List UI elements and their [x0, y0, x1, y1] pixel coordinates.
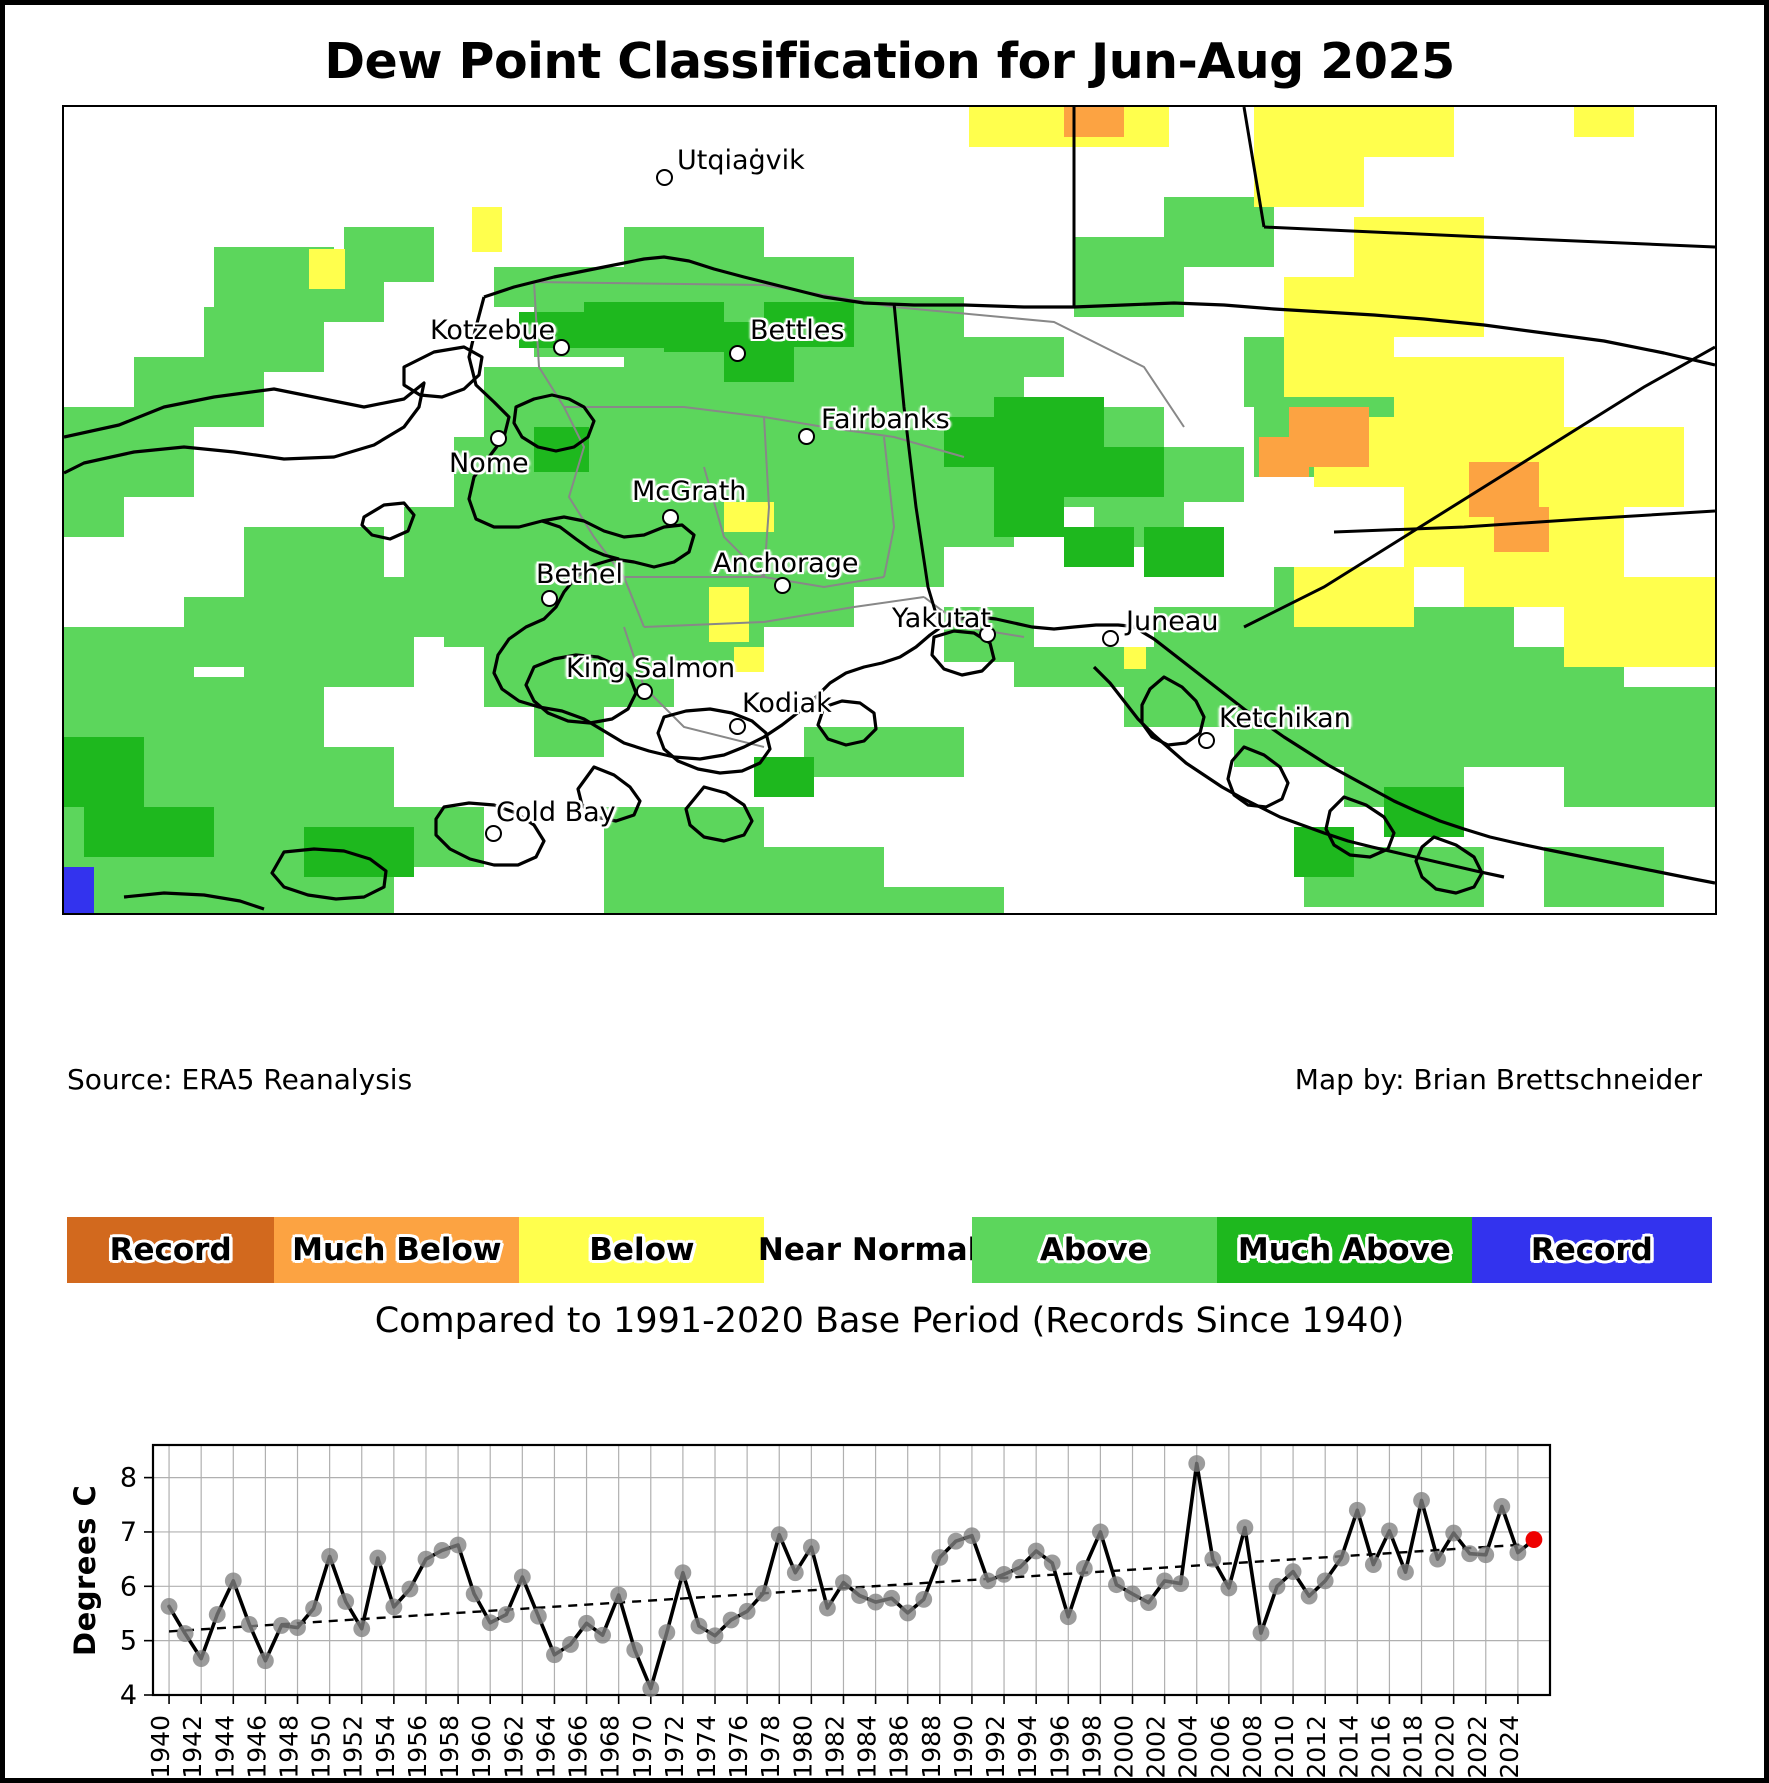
legend-item-record[interactable]: Record [1472, 1217, 1712, 1283]
data-point[interactable] [1092, 1524, 1109, 1541]
data-point[interactable] [1269, 1578, 1286, 1595]
data-point[interactable] [1204, 1551, 1221, 1568]
page-title: Dew Point Classification for Jun-Aug 202… [5, 33, 1769, 90]
data-point[interactable] [1413, 1492, 1430, 1509]
data-point[interactable] [161, 1598, 178, 1615]
x-tick-label: 1972 [660, 1715, 689, 1779]
data-point[interactable] [1220, 1580, 1237, 1597]
data-point[interactable] [385, 1599, 402, 1616]
x-tick-label: 2006 [1206, 1715, 1235, 1779]
x-tick-label: 1944 [210, 1715, 239, 1779]
data-point[interactable] [353, 1620, 370, 1637]
data-point[interactable] [1445, 1525, 1462, 1542]
city-dot-juneau[interactable] [1102, 630, 1119, 647]
data-point[interactable] [273, 1617, 290, 1634]
x-tick-label: 1940 [146, 1715, 175, 1779]
data-point[interactable] [1461, 1545, 1478, 1562]
data-point[interactable] [1429, 1551, 1446, 1568]
city-label-mcgrath: McGrath [632, 476, 746, 507]
data-point[interactable] [257, 1652, 274, 1669]
data-point[interactable] [803, 1539, 820, 1556]
data-point[interactable] [883, 1590, 900, 1607]
x-tick-label: 1974 [692, 1715, 721, 1779]
data-point[interactable] [899, 1605, 916, 1622]
y-tick-label: 5 [120, 1626, 137, 1657]
data-point[interactable] [755, 1585, 772, 1602]
x-tick-label: 2000 [1110, 1715, 1139, 1779]
data-point[interactable] [193, 1650, 210, 1667]
city-label-ketchikan: Ketchikan [1219, 703, 1351, 734]
x-tick-label: 1948 [275, 1715, 304, 1779]
x-tick-label: 1958 [435, 1715, 464, 1779]
x-tick-label: 2008 [1238, 1715, 1267, 1779]
data-point[interactable] [1381, 1522, 1398, 1539]
data-point[interactable] [642, 1680, 659, 1697]
data-point[interactable] [1108, 1576, 1125, 1593]
data-point[interactable] [1317, 1572, 1334, 1589]
plot-background [153, 1445, 1550, 1695]
city-label-kodiak: Kodiak [742, 688, 832, 719]
legend-item-label: Above [1040, 1232, 1149, 1268]
y-tick-label: 4 [120, 1680, 137, 1711]
data-point[interactable] [1253, 1625, 1270, 1642]
classification-legend: RecordMuch BelowBelowNear NormalAboveMuc… [67, 1217, 1712, 1283]
data-point[interactable] [1076, 1560, 1093, 1577]
x-tick-label: 2014 [1334, 1715, 1363, 1779]
data-point[interactable] [915, 1591, 932, 1608]
data-point[interactable] [1140, 1594, 1157, 1611]
x-tick-label: 1984 [853, 1715, 882, 1779]
data-point[interactable] [819, 1600, 836, 1617]
data-point[interactable] [1156, 1572, 1173, 1589]
legend-item-label: Much Above [1238, 1232, 1451, 1268]
x-tick-label: 1986 [885, 1715, 914, 1779]
x-tick-label: 1950 [307, 1715, 336, 1779]
city-label-anchorage: Anchorage [713, 548, 858, 579]
data-point[interactable] [562, 1636, 579, 1653]
x-tick-label: 1954 [371, 1715, 400, 1779]
city-dot-king-salmon[interactable] [636, 683, 653, 700]
legend-item-below[interactable]: Below [519, 1217, 764, 1283]
data-point[interactable] [931, 1549, 948, 1566]
x-tick-label: 2012 [1302, 1715, 1331, 1779]
x-tick-label: 1988 [917, 1715, 946, 1779]
data-point[interactable] [434, 1542, 451, 1559]
city-dot-nome[interactable] [490, 430, 507, 447]
data-point[interactable] [787, 1564, 804, 1581]
x-tick-label: 1996 [1045, 1715, 1074, 1779]
data-point[interactable] [964, 1527, 981, 1544]
city-label-nome: Nome [449, 448, 529, 479]
data-point[interactable] [450, 1537, 467, 1554]
data-point[interactable] [1365, 1556, 1382, 1573]
y-tick-label: 7 [120, 1517, 137, 1548]
data-point[interactable] [1477, 1546, 1494, 1563]
legend-item-label: Near Normal [758, 1232, 978, 1268]
y-axis-label: Degrees C [65, 1445, 105, 1695]
x-tick-label: 1970 [628, 1715, 657, 1779]
legend-item-record[interactable]: Record [67, 1217, 274, 1283]
data-point[interactable] [658, 1624, 675, 1641]
x-tick-label: 2002 [1142, 1715, 1171, 1779]
data-point[interactable] [1493, 1498, 1510, 1515]
data-point[interactable] [1060, 1608, 1077, 1625]
data-point[interactable] [369, 1550, 386, 1567]
data-point[interactable] [177, 1625, 194, 1642]
data-point[interactable] [674, 1564, 691, 1581]
data-point-highlight[interactable] [1526, 1531, 1543, 1548]
data-point[interactable] [835, 1574, 852, 1591]
city-label-yakutat: Yakutat [892, 603, 991, 634]
legend-item-above[interactable]: Above [972, 1217, 1217, 1283]
x-tick-label: 2010 [1270, 1715, 1299, 1779]
x-tick-label: 2004 [1174, 1715, 1203, 1779]
data-point[interactable] [610, 1587, 627, 1604]
x-tick-label: 1962 [499, 1715, 528, 1779]
source-label: Source: ERA5 Reanalysis [67, 1063, 412, 1096]
data-point[interactable] [530, 1608, 547, 1625]
map-panel[interactable]: Utqiaġvik Kotzebue Bettles Nome Fairbank… [62, 105, 1717, 915]
data-point[interactable] [947, 1533, 964, 1550]
legend-item-near-normal[interactable]: Near Normal [764, 1217, 971, 1283]
data-point[interactable] [723, 1612, 740, 1629]
city-dot-utqiagvik[interactable] [656, 169, 673, 186]
x-tick-label: 1994 [1013, 1715, 1042, 1779]
data-point[interactable] [209, 1606, 226, 1623]
data-point[interactable] [1301, 1588, 1318, 1605]
data-point[interactable] [321, 1548, 338, 1565]
city-dot-fairbanks[interactable] [798, 428, 815, 445]
x-tick-label: 1956 [403, 1715, 432, 1779]
city-dot-bettles[interactable] [729, 345, 746, 362]
data-point[interactable] [691, 1618, 708, 1635]
data-point[interactable] [739, 1603, 756, 1620]
x-tick-label: 1978 [756, 1715, 785, 1779]
legend-item-label: Much Below [292, 1232, 501, 1268]
data-point[interactable] [241, 1616, 258, 1633]
x-tick-label: 1998 [1077, 1715, 1106, 1779]
data-point[interactable] [851, 1587, 868, 1604]
data-point[interactable] [337, 1593, 354, 1610]
x-tick-label: 2024 [1495, 1715, 1524, 1779]
data-point[interactable] [771, 1526, 788, 1543]
data-point[interactable] [867, 1594, 884, 1611]
x-tick-label: 2020 [1431, 1715, 1460, 1779]
data-point[interactable] [402, 1581, 419, 1598]
data-point[interactable] [1028, 1543, 1045, 1560]
city-label-bethel: Bethel [536, 559, 623, 590]
data-point[interactable] [514, 1569, 531, 1586]
y-tick-label: 8 [120, 1463, 137, 1494]
data-point[interactable] [1397, 1564, 1414, 1581]
city-dot-kodiak[interactable] [729, 718, 746, 735]
data-point[interactable] [418, 1551, 435, 1568]
x-tick-label: 1980 [788, 1715, 817, 1779]
x-tick-label: 1946 [242, 1715, 271, 1779]
timeseries-svg: 1940194219441946194819501952195419561958… [5, 1397, 1769, 1783]
city-dot-ketchikan[interactable] [1198, 732, 1215, 749]
x-tick-label: 1960 [467, 1715, 496, 1779]
data-point[interactable] [1237, 1519, 1254, 1536]
data-point[interactable] [1349, 1502, 1366, 1519]
data-point[interactable] [594, 1627, 611, 1644]
data-point[interactable] [1172, 1575, 1189, 1592]
data-point[interactable] [1509, 1544, 1526, 1561]
data-point[interactable] [626, 1641, 643, 1658]
x-tick-label: 1964 [531, 1715, 560, 1779]
data-point[interactable] [578, 1615, 595, 1632]
x-tick-label: 1952 [339, 1715, 368, 1779]
city-dot-mcgrath[interactable] [662, 509, 679, 526]
legend-item-label: Record [110, 1232, 232, 1268]
data-point[interactable] [546, 1646, 563, 1663]
legend-item-label: Below [589, 1232, 694, 1268]
city-label-fairbanks: Fairbanks [821, 404, 950, 435]
city-label-kotzebue: Kotzebue [430, 315, 555, 346]
map-credit-label: Map by: Brian Brettschneider [1295, 1063, 1702, 1096]
data-point[interactable] [289, 1619, 306, 1636]
poster-root: Dew Point Classification for Jun-Aug 202… [0, 0, 1769, 1783]
data-point[interactable] [482, 1614, 499, 1631]
data-point[interactable] [1044, 1555, 1061, 1572]
legend-caption: Compared to 1991-2020 Base Period (Recor… [5, 1301, 1769, 1341]
city-dot-bethel[interactable] [541, 590, 558, 607]
city-label-juneau: Juneau [1126, 606, 1218, 637]
class-record-above-region [64, 867, 94, 913]
data-point[interactable] [1285, 1563, 1302, 1580]
x-tick-label: 2016 [1366, 1715, 1395, 1779]
data-point[interactable] [225, 1572, 242, 1589]
legend-item-much-above[interactable]: Much Above [1217, 1217, 1472, 1283]
data-point[interactable] [305, 1600, 322, 1617]
city-label-cold-bay: Cold Bay [496, 797, 616, 828]
x-tick-label: 1976 [724, 1715, 753, 1779]
x-tick-label: 2022 [1463, 1715, 1492, 1779]
data-point[interactable] [1124, 1586, 1141, 1603]
data-point[interactable] [466, 1586, 483, 1603]
data-point[interactable] [980, 1572, 997, 1589]
legend-item-much-below[interactable]: Much Below [274, 1217, 519, 1283]
y-tick-label: 6 [120, 1571, 137, 1602]
alaska-classification-map [64, 107, 1715, 913]
x-tick-label: 1990 [949, 1715, 978, 1779]
x-tick-label: 2018 [1399, 1715, 1428, 1779]
data-point[interactable] [498, 1606, 515, 1623]
x-tick-label: 1992 [981, 1715, 1010, 1779]
legend-item-label: Record [1531, 1232, 1653, 1268]
data-point[interactable] [1012, 1559, 1029, 1576]
timeseries-chart: 1940194219441946194819501952195419561958… [5, 1397, 1769, 1783]
data-point[interactable] [996, 1566, 1013, 1583]
city-label-king-salmon: King Salmon [566, 653, 735, 684]
x-tick-label: 1982 [820, 1715, 849, 1779]
city-dot-anchorage[interactable] [774, 577, 791, 594]
data-point[interactable] [1188, 1455, 1205, 1472]
x-tick-label: 1968 [596, 1715, 625, 1779]
city-label-bettles: Bettles [750, 315, 845, 346]
x-tick-label: 1942 [178, 1715, 207, 1779]
x-tick-label: 1966 [564, 1715, 593, 1779]
data-point[interactable] [707, 1627, 724, 1644]
city-dot-kotzebue[interactable] [553, 339, 570, 356]
city-label-utqiagvik: Utqiaġvik [677, 145, 805, 176]
data-point[interactable] [1333, 1550, 1350, 1567]
